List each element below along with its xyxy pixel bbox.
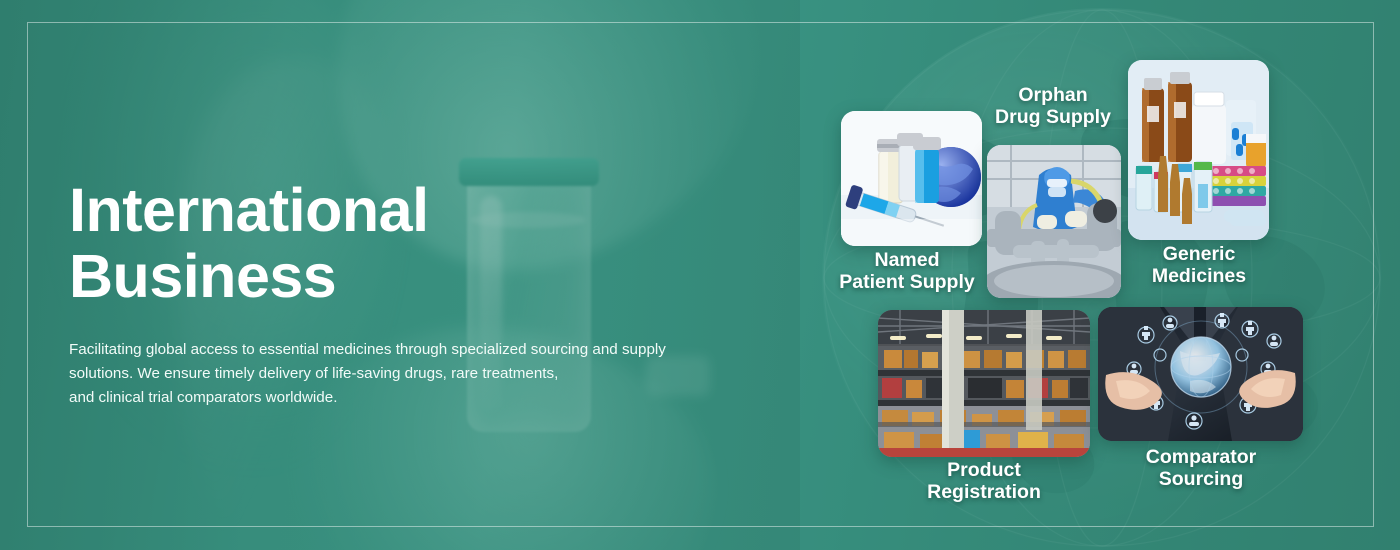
service-card-label-comparator-sourcing: Comparator Sourcing — [1086, 446, 1316, 490]
service-card-cluster: Named Patient Supply — [0, 0, 1400, 550]
service-card-label-generic-medicines: Generic Medicines — [1084, 243, 1314, 287]
service-card-label-product-registration: Product Registration — [869, 459, 1099, 503]
warehouse-racking-photo — [878, 310, 1090, 457]
vials-syringe-globe-photo — [841, 111, 982, 246]
service-card-comparator-sourcing[interactable] — [1098, 307, 1303, 441]
service-card-product-registration[interactable] — [878, 310, 1090, 457]
pharmacy-bottles-blisters-photo — [1128, 60, 1269, 240]
hands-holding-digital-globe-photo — [1098, 307, 1303, 441]
service-card-generic-medicines[interactable] — [1128, 60, 1269, 240]
international-business-banner: International Business Facilitating glob… — [0, 0, 1400, 550]
service-card-named-patient-supply[interactable] — [841, 111, 982, 246]
